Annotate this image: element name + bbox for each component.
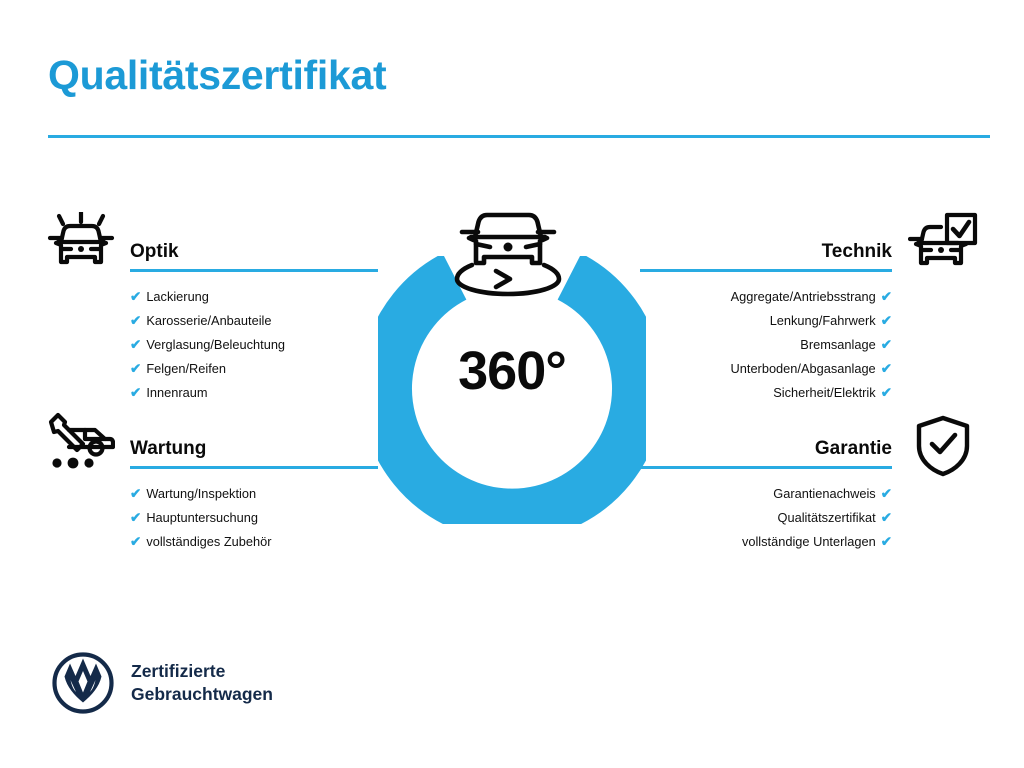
section-divider-technik xyxy=(640,269,892,272)
volkswagen-logo-icon xyxy=(52,652,114,714)
check-icon: ✔ xyxy=(130,385,141,400)
check-icon: ✔ xyxy=(881,534,892,549)
section-technik: Technik Aggregate/Antriebsstrang✔ Lenkun… xyxy=(640,240,892,405)
section-divider-wartung xyxy=(130,466,378,469)
checklist-optik: ✔Lackierung ✔Karosserie/Anbauteile ✔Verg… xyxy=(130,285,378,405)
list-item-label: vollständiges Zubehör xyxy=(146,534,271,549)
check-icon: ✔ xyxy=(130,510,141,525)
list-item: vollständige Unterlagen✔ xyxy=(640,530,892,554)
page-title: Qualitätszertifikat xyxy=(48,52,386,99)
header-divider xyxy=(48,135,990,138)
check-icon: ✔ xyxy=(130,289,141,304)
check-icon: ✔ xyxy=(881,337,892,352)
car-front-shine-icon xyxy=(47,212,115,279)
list-item-label: Garantienachweis xyxy=(773,486,875,501)
list-item: ✔Innenraum xyxy=(130,381,378,405)
check-icon: ✔ xyxy=(130,534,141,549)
section-divider-optik xyxy=(130,269,378,272)
list-item: Unterboden/Abgasanlage✔ xyxy=(640,357,892,381)
section-title-optik: Optik xyxy=(130,240,378,264)
list-item-label: Verglasung/Beleuchtung xyxy=(146,337,285,352)
list-item: ✔Karosserie/Anbauteile xyxy=(130,309,378,333)
car-rotate-360-icon xyxy=(452,199,564,299)
list-item-label: Lackierung xyxy=(146,289,209,304)
footer-line-2: Gebrauchtwagen xyxy=(131,683,273,706)
list-item: Bremsanlage✔ xyxy=(640,333,892,357)
list-item-label: Qualitätszertifikat xyxy=(778,510,876,525)
check-icon: ✔ xyxy=(130,337,141,352)
list-item: ✔Hauptuntersuchung xyxy=(130,506,378,530)
checklist-wartung: ✔Wartung/Inspektion ✔Hauptuntersuchung ✔… xyxy=(130,482,378,554)
list-item-label: Innenraum xyxy=(146,385,207,400)
list-item-label: Hauptuntersuchung xyxy=(146,510,258,525)
list-item: Qualitätszertifikat✔ xyxy=(640,506,892,530)
list-item-label: Bremsanlage xyxy=(800,337,875,352)
check-icon: ✔ xyxy=(881,313,892,328)
list-item-label: Wartung/Inspektion xyxy=(146,486,256,501)
check-icon: ✔ xyxy=(130,361,141,376)
list-item: ✔Felgen/Reifen xyxy=(130,357,378,381)
checklist-garantie: Garantienachweis✔ Qualitätszertifikat✔ v… xyxy=(640,482,892,554)
list-item-label: vollständige Unterlagen xyxy=(742,534,876,549)
list-item: Aggregate/Antriebsstrang✔ xyxy=(640,285,892,309)
list-item: Garantienachweis✔ xyxy=(640,482,892,506)
section-title-garantie: Garantie xyxy=(640,437,892,461)
section-divider-garantie xyxy=(640,466,892,469)
list-item-label: Unterboden/Abgasanlage xyxy=(731,361,876,376)
car-front-checkbox-icon xyxy=(908,212,978,279)
list-item: ✔Lackierung xyxy=(130,285,378,309)
list-item-label: Aggregate/Antriebsstrang xyxy=(731,289,876,304)
list-item-label: Lenkung/Fahrwerk xyxy=(770,313,876,328)
check-icon: ✔ xyxy=(881,385,892,400)
section-title-wartung: Wartung xyxy=(130,437,378,461)
check-icon: ✔ xyxy=(130,313,141,328)
list-item: Sicherheit/Elektrik✔ xyxy=(640,381,892,405)
list-item: ✔Verglasung/Beleuchtung xyxy=(130,333,378,357)
check-icon: ✔ xyxy=(881,361,892,376)
section-optik: Optik ✔Lackierung ✔Karosserie/Anbauteile… xyxy=(130,240,378,405)
list-item-label: Sicherheit/Elektrik xyxy=(773,385,875,400)
checklist-technik: Aggregate/Antriebsstrang✔ Lenkung/Fahrwe… xyxy=(640,285,892,405)
list-item-label: Karosserie/Anbauteile xyxy=(146,313,271,328)
list-item: ✔Wartung/Inspektion xyxy=(130,482,378,506)
check-icon: ✔ xyxy=(130,486,141,501)
check-icon: ✔ xyxy=(881,289,892,304)
footer-line-1: Zertifizierte xyxy=(131,660,273,683)
footer-brand-text: Zertifizierte Gebrauchtwagen xyxy=(131,660,273,706)
check-icon: ✔ xyxy=(881,510,892,525)
section-title-technik: Technik xyxy=(640,240,892,264)
list-item: Lenkung/Fahrwerk✔ xyxy=(640,309,892,333)
list-item-label: Felgen/Reifen xyxy=(146,361,226,376)
section-garantie: Garantie Garantienachweis✔ Qualitätszert… xyxy=(640,437,892,554)
section-wartung: Wartung ✔Wartung/Inspektion ✔Hauptunters… xyxy=(130,437,378,554)
check-icon: ✔ xyxy=(881,486,892,501)
badge-number: 360° xyxy=(378,340,646,402)
list-item: ✔vollständiges Zubehör xyxy=(130,530,378,554)
shield-check-icon xyxy=(914,415,972,482)
car-service-tool-icon xyxy=(47,412,115,475)
